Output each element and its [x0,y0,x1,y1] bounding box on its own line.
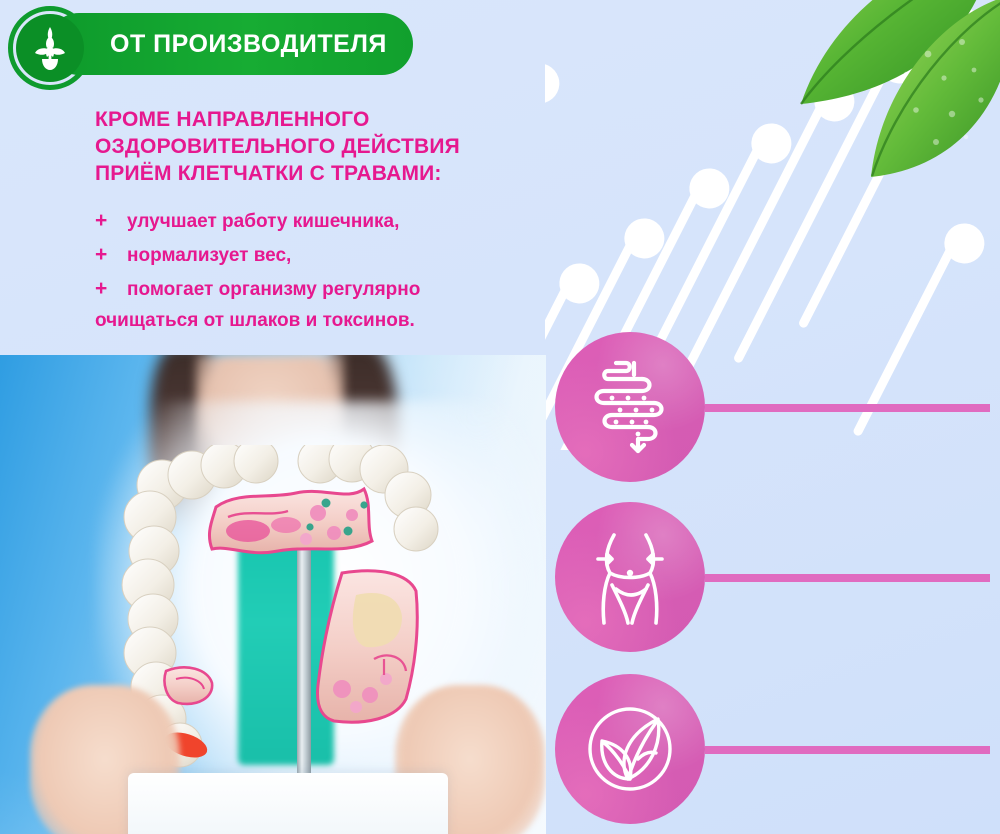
list-item-label: нормализует вес, [127,244,291,268]
doctor-photo [0,355,546,834]
list-item-label: помогает организму регулярно [127,278,420,302]
manufacturer-badge: ОТ ПРОИЗВОДИТЕЛЯ [0,0,360,96]
slim-waist-icon[interactable] [555,502,705,652]
list-item: + улучшает работу кишечника, [95,209,565,234]
list-item: + нормализует вес, [95,243,565,268]
feature-divider-line [705,746,990,754]
feature-weight[interactable] [545,502,990,654]
feature-natural[interactable] [545,674,990,826]
plus-icon: + [95,209,127,233]
green-leaf-icon [776,0,1000,242]
headline-line-3: ПРИЁМ КЛЕТЧАТКИ С ТРАВАМИ: [95,160,565,187]
page-title: КРОМЕ НАПРАВЛЕННОГО ОЗДОРОВИТЕЛЬНОГО ДЕЙ… [95,106,565,187]
benefit-list: + улучшает работу кишечника, + нормализу… [95,209,565,333]
badge-label: ОТ ПРОИЗВОДИТЕЛЯ [110,30,387,59]
list-item: + помогает организму регулярно [95,277,565,302]
plus-icon: + [95,243,127,267]
copy-block: КРОМЕ НАПРАВЛЕННОГО ОЗДОРОВИТЕЛЬНОГО ДЕЙ… [95,106,565,333]
leaves-circle-icon[interactable] [555,674,705,824]
headline-line-2: ОЗДОРОВИТЕЛЬНОГО ДЕЙСТВИЯ [95,133,565,160]
headline-line-1: КРОМЕ НАПРАВЛЕННОГО [95,106,565,133]
list-item-label: улучшает работу кишечника, [127,210,399,234]
model-base-tray [128,773,448,834]
wheat-grain-icon [16,14,84,82]
plus-icon: + [95,277,127,301]
badge-pill: ОТ ПРОИЗВОДИТЕЛЯ [48,13,413,75]
feature-digestion[interactable] [545,332,990,484]
feature-divider-line [705,404,990,412]
list-item-continuation: очищаться от шлаков и токсинов. [95,309,565,333]
promo-banner: ОТ ПРОИЗВОДИТЕЛЯ КРОМЕ НАПРАВЛЕНН [0,0,1000,834]
feature-divider-line [705,574,990,582]
intestine-icon[interactable] [555,332,705,482]
